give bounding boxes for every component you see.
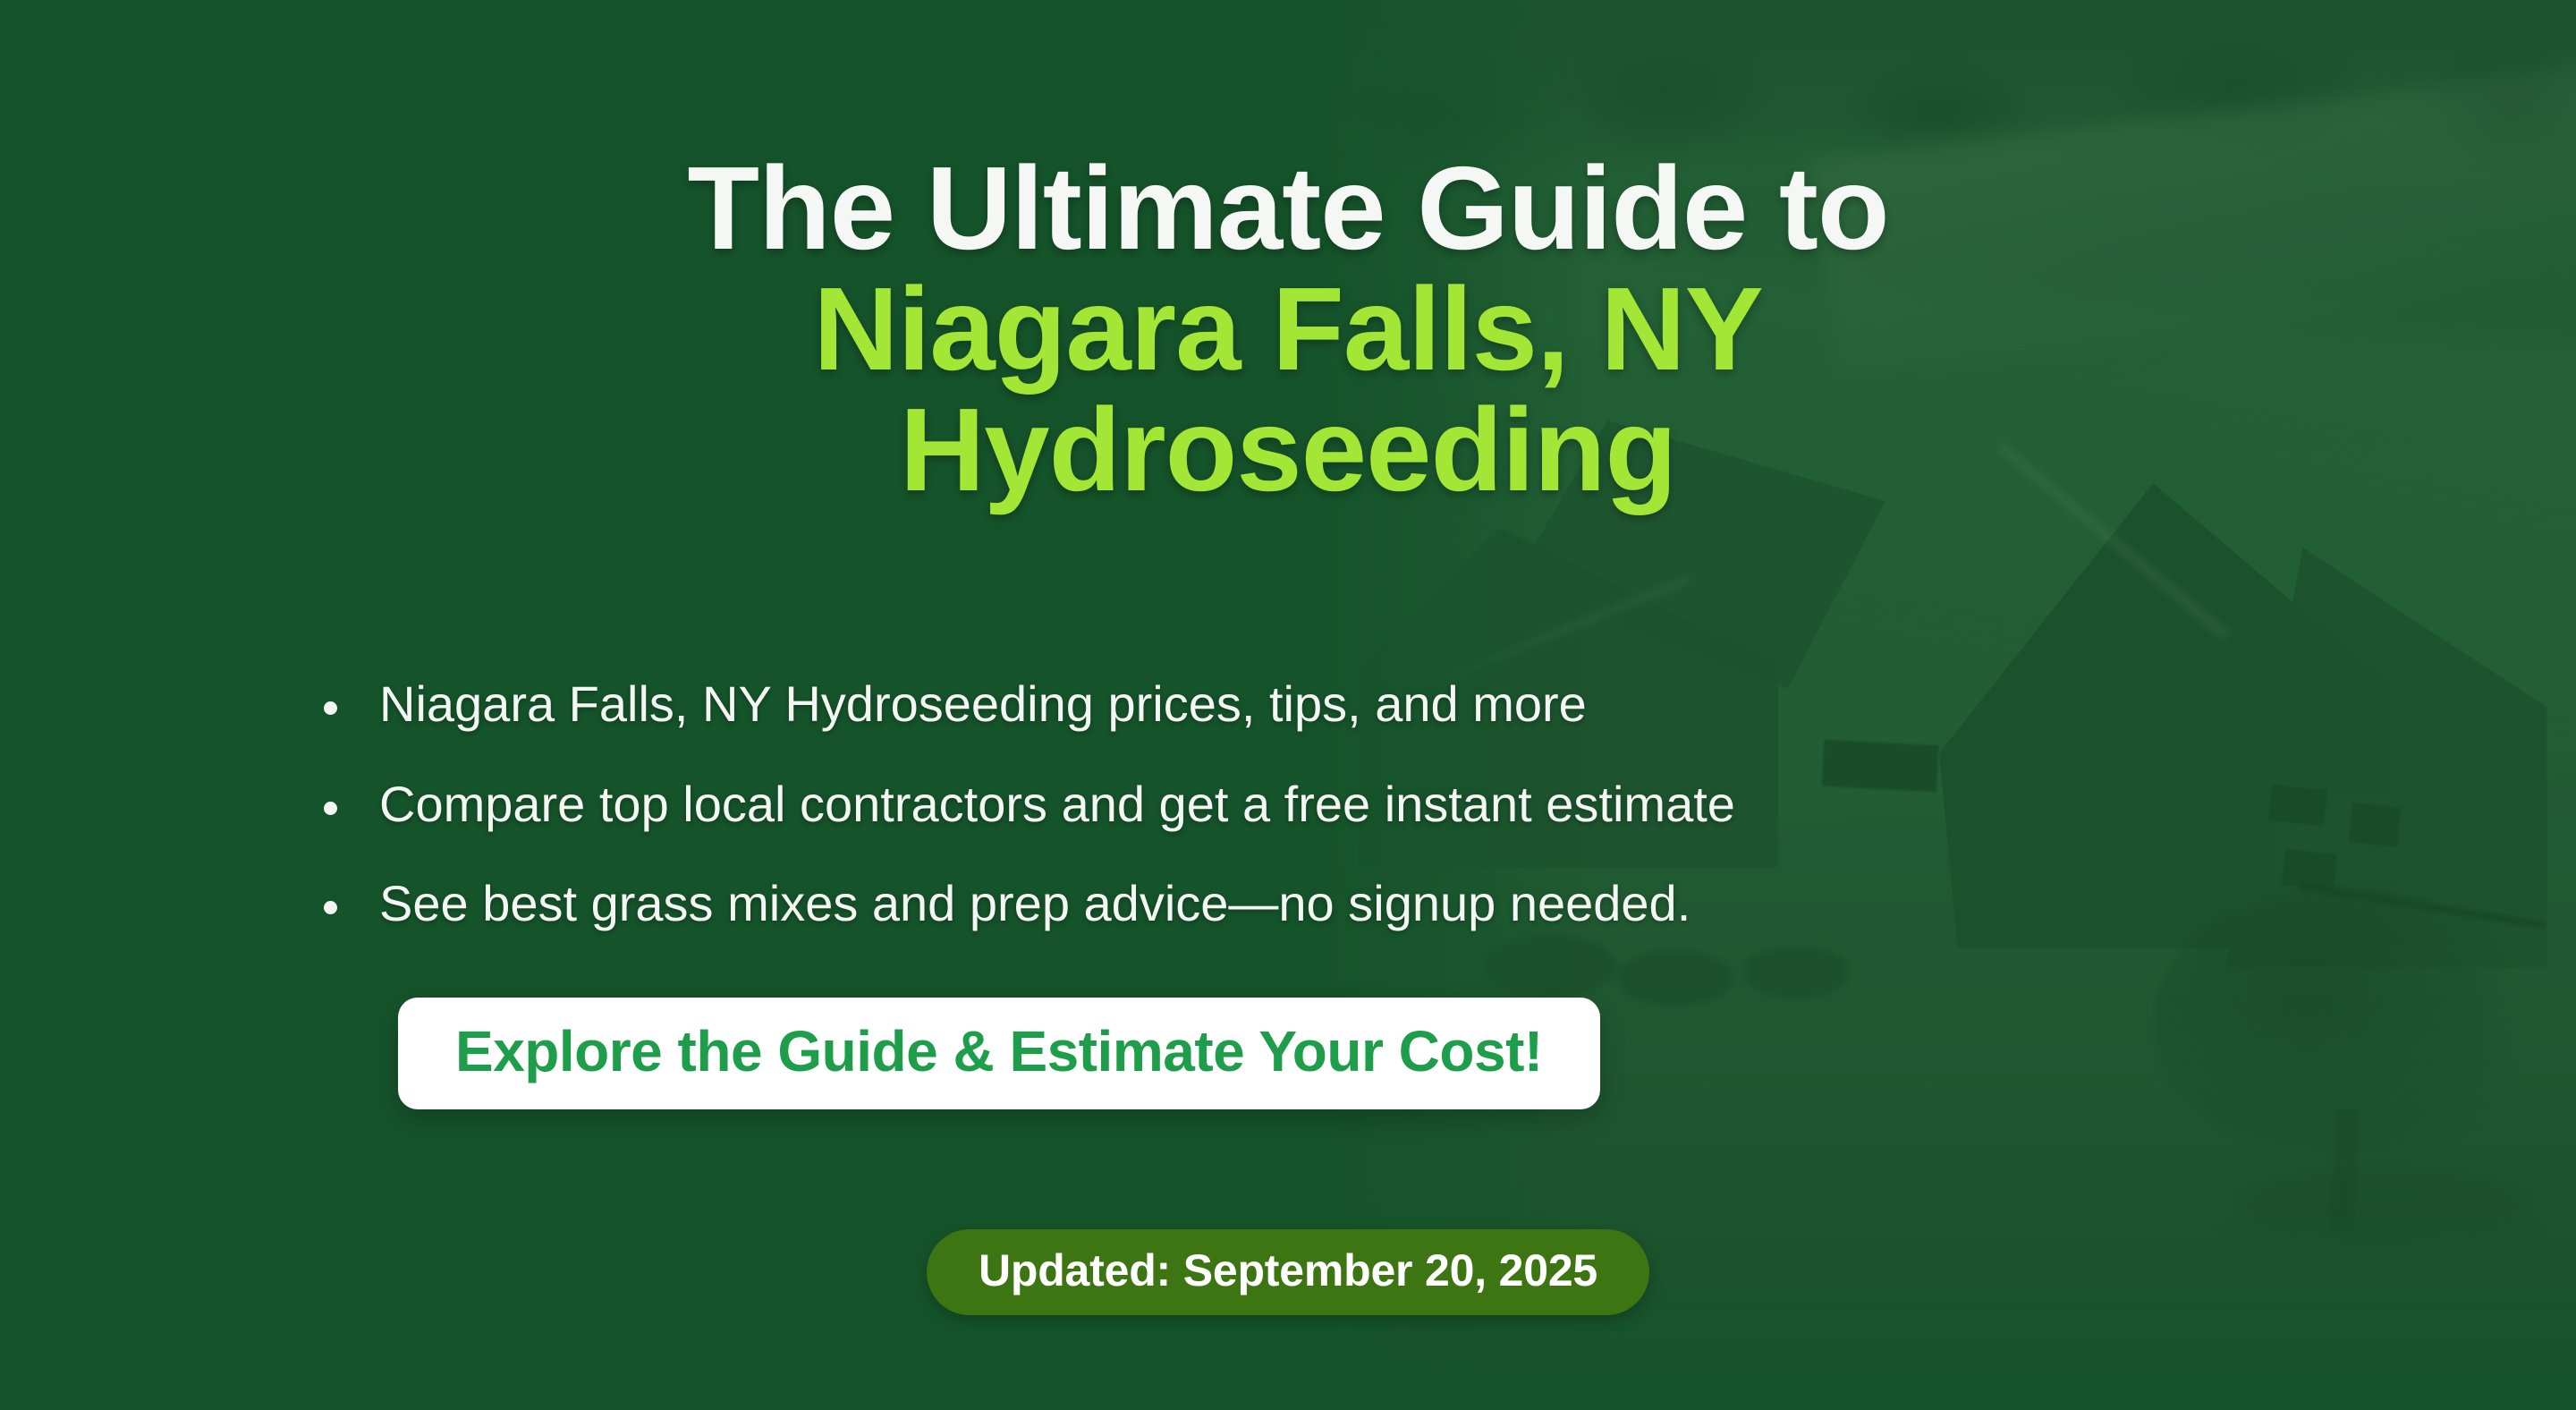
- status-badge: Updated: September 20, 2025: [927, 1229, 1649, 1315]
- bullet-text: See best grass mixes and prep advice—no …: [379, 875, 1690, 931]
- bullet-text: Compare top local contractors and get a …: [379, 776, 1735, 832]
- hero-content: The Ultimate Guide to Niagara Falls, NY …: [0, 0, 2576, 1410]
- updated-badge-container: Updated: September 20, 2025: [0, 1229, 2576, 1315]
- headline-lead-line: The Ultimate Guide to: [0, 149, 2576, 269]
- list-item: Compare top local contractors and get a …: [324, 777, 1735, 833]
- feature-bullet-list: Niagara Falls, NY Hydroseeding prices, t…: [324, 676, 1735, 932]
- cta-container: Explore the Guide & Estimate Your Cost!: [398, 998, 1600, 1109]
- list-item: Niagara Falls, NY Hydroseeding prices, t…: [324, 676, 1735, 733]
- headline-accent-line-1: Niagara Falls, NY: [0, 269, 2576, 390]
- headline-accent-line-2: Hydroseeding: [0, 390, 2576, 511]
- hero-banner: The Ultimate Guide to Niagara Falls, NY …: [0, 0, 2576, 1410]
- list-item: See best grass mixes and prep advice—no …: [324, 876, 1735, 932]
- bullet-dot-icon: [324, 802, 337, 815]
- bullet-text: Niagara Falls, NY Hydroseeding prices, t…: [379, 675, 1587, 732]
- bullet-dot-icon: [324, 701, 337, 715]
- explore-guide-button[interactable]: Explore the Guide & Estimate Your Cost!: [398, 998, 1600, 1109]
- page-title: The Ultimate Guide to Niagara Falls, NY …: [0, 149, 2576, 510]
- bullet-dot-icon: [324, 901, 337, 914]
